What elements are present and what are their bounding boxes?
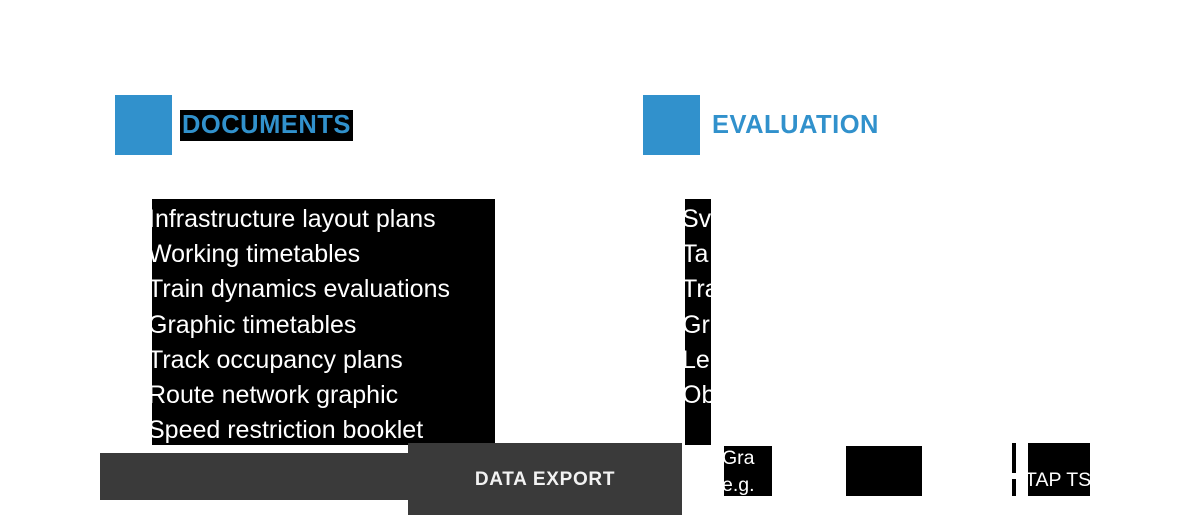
dashed-vertical-divider-icon <box>1012 443 1016 496</box>
list-item: Infrastructure layout plans <box>152 202 450 237</box>
column-heading-documents: DOCUMENTS <box>115 95 353 155</box>
format-note-line: Gra <box>724 446 755 472</box>
list-item: Le <box>685 343 711 378</box>
data-export-label: DATA EXPORT <box>475 469 615 491</box>
format-note-line: TAP TS <box>1028 467 1090 494</box>
format-note-3: TAP TS <box>1028 443 1090 496</box>
list-item: Train dynamics evaluations <box>152 272 450 307</box>
format-note-line: e.g. <box>724 472 755 496</box>
documents-list: Infrastructure layout plans Working time… <box>152 199 1200 445</box>
column-heading-evaluation: EVALUATION <box>643 95 881 155</box>
list-item: Track occupancy plans <box>152 343 450 378</box>
data-export-bar-left-segment <box>100 453 408 500</box>
list-item: Speed restriction booklet <box>152 413 450 445</box>
diagram-canvas: DOCUMENTS EVALUATION Infrastructure layo… <box>0 0 1200 523</box>
format-note-1: Gra e.g. <box>724 446 772 496</box>
list-item: Tra <box>685 272 711 307</box>
list-item: Ob <box>685 378 711 413</box>
list-item: Gr <box>685 308 711 343</box>
blue-square-icon <box>643 95 700 155</box>
format-note-2: tables, s® XML, <box>846 446 922 496</box>
list-item: Route network graphic <box>152 378 450 413</box>
column-heading-label: DOCUMENTS <box>180 110 353 141</box>
list-item: Working timetables <box>152 237 450 272</box>
list-item: Graphic timetables <box>152 308 450 343</box>
blue-square-icon <box>115 95 172 155</box>
data-export-bar[interactable]: DATA EXPORT <box>408 443 682 515</box>
column-heading-label: EVALUATION <box>710 110 881 141</box>
evaluation-list: Sv Ta Tra Gr Le Ob <box>685 199 711 445</box>
list-item: Ta <box>685 237 711 272</box>
list-item: Sv <box>685 202 711 237</box>
